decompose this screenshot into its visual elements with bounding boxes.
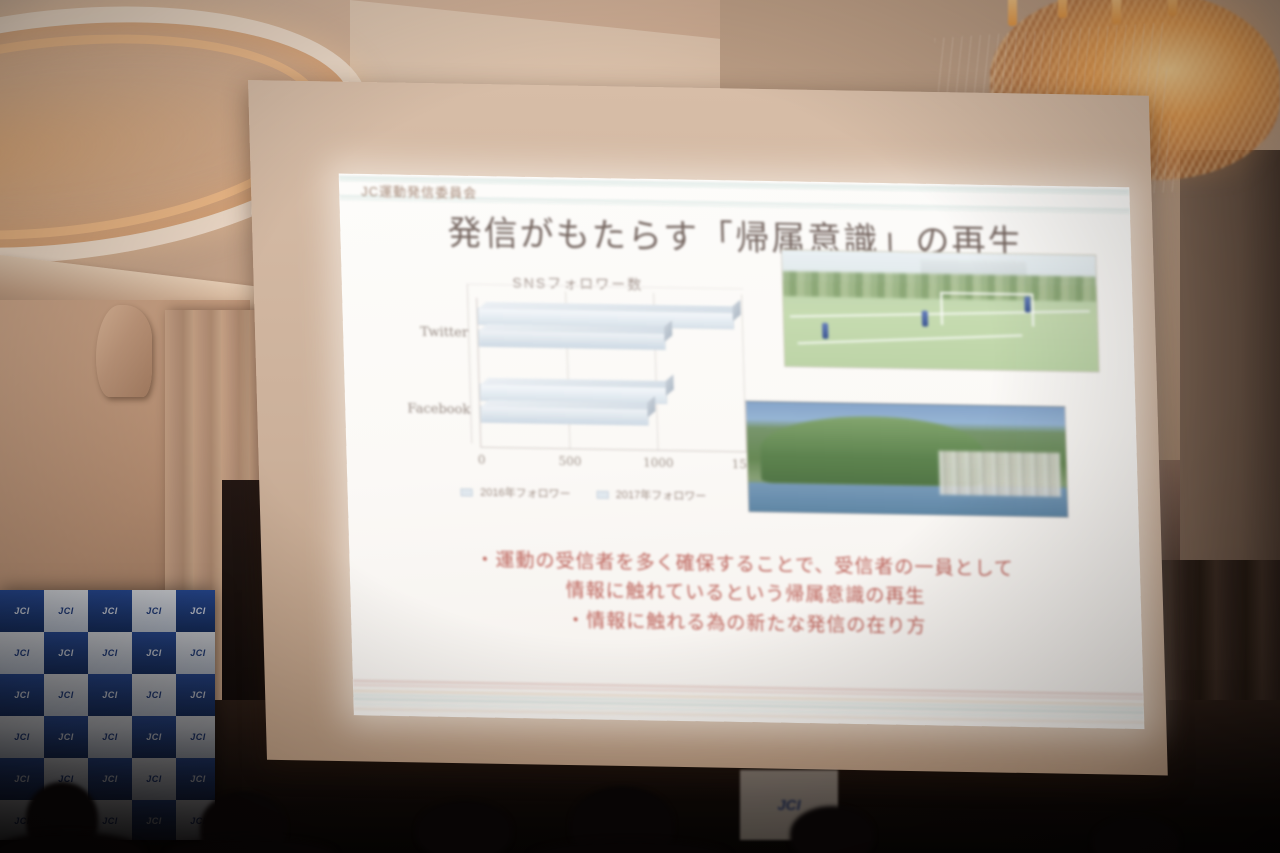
legend-swatch-2016 — [461, 488, 473, 496]
audience-head — [790, 806, 874, 853]
slide-header-label: JC運動発信委員会 — [361, 181, 478, 202]
soccer-field-photo — [781, 249, 1100, 372]
decorative-corbel — [96, 305, 152, 397]
xtick-0: 0 — [478, 453, 486, 467]
photo-town-buildings — [938, 451, 1060, 497]
chart-category-label: Facebook — [407, 402, 470, 418]
projection-screen: JC運動発信委員会 発信がもたらす「帰属意識」の再生 SNSフォロワー数 Twi… — [248, 80, 1168, 775]
legend-item-2017: 2017年フォロワー — [596, 486, 706, 504]
photo-goal-post — [940, 292, 1035, 326]
xtick-1000: 1000 — [643, 456, 674, 471]
harbor-landscape-photo — [745, 400, 1068, 518]
bar-twitter-2016 — [478, 330, 666, 350]
bar-facebook-2016 — [480, 406, 648, 426]
presentation-slide: JC運動発信委員会 発信がもたらす「帰属意識」の再生 SNSフォロワー数 Twi… — [339, 174, 1145, 730]
chart-legend: 2016年フォロワー 2017年フォロワー — [413, 483, 754, 505]
legend-label-2016: 2016年フォロワー — [480, 487, 571, 501]
photo-player — [921, 311, 927, 327]
slide-bullet-block: ・運動の受信者を多く確保することで、受信者の一員として 情報に触れているという帰… — [349, 543, 1142, 645]
photo-pitch-line — [797, 334, 1022, 344]
sns-follower-chart: SNSフォロワー数 Twitter Facebook — [397, 270, 764, 526]
chart-plot-area: Twitter Facebook 0 500 1000 1500 — [476, 298, 746, 453]
xtick-500: 500 — [558, 454, 581, 468]
legend-label-2017: 2017年フォロワー — [616, 489, 707, 503]
legend-swatch-2017 — [597, 491, 609, 499]
chart-title: SNSフォロワー数 — [397, 270, 758, 296]
audience-head — [416, 800, 512, 853]
legend-item-2016: 2016年フォロワー — [461, 483, 571, 501]
chart-category-label: Twitter — [420, 325, 468, 341]
photo-player — [1024, 296, 1030, 312]
screenshot-root: JC運動発信委員会 発信がもたらす「帰属意識」の再生 SNSフォロワー数 Twi… — [0, 0, 1280, 853]
photo-player — [822, 323, 828, 339]
